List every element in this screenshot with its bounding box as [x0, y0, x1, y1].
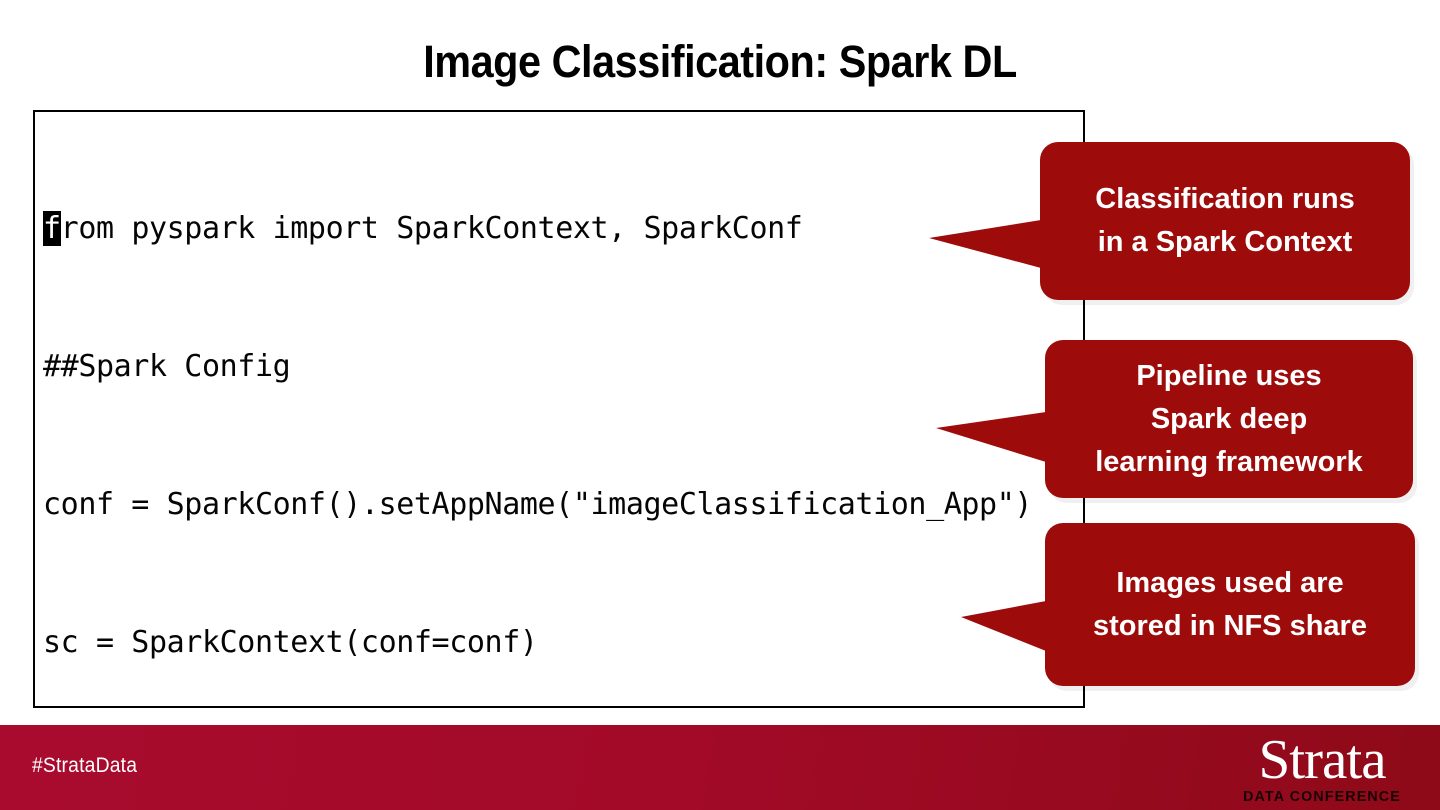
code-line-text-0: rom pyspark import SparkContext, SparkCo… — [61, 211, 803, 246]
callout-text: Images used are stored in NFS share — [1045, 562, 1415, 648]
callout-images-nfs-share: Images used are stored in NFS share — [1045, 523, 1415, 686]
code-screenshot-box: from pyspark import SparkContext, SparkC… — [33, 110, 1085, 708]
callout-line-2: Spark deep — [1057, 398, 1401, 441]
callout-pipeline-spark-deep-learning: Pipeline uses Spark deep learning framew… — [1045, 340, 1413, 498]
callout-line-1: Images used are — [1057, 562, 1403, 605]
footer-bar: #StrataData Strata DATA CONFERENCE — [0, 725, 1440, 810]
callout-text: Pipeline uses Spark deep learning framew… — [1045, 355, 1413, 484]
footer-hashtag: #StrataData — [32, 754, 137, 778]
callout-text: Classification runs in a Spark Context — [1040, 178, 1410, 264]
code-line: ##Spark Config — [43, 344, 1085, 390]
strata-logo: Strata DATA CONFERENCE — [1232, 733, 1412, 805]
callout-line-2: stored in NFS share — [1057, 605, 1403, 648]
strata-logo-subtitle: DATA CONFERENCE — [1237, 788, 1408, 805]
code-listing: from pyspark import SparkContext, SparkC… — [43, 114, 1085, 708]
strata-logo-wordmark: Strata — [1230, 733, 1414, 787]
callout-classification-spark-context: Classification runs in a Spark Context — [1040, 142, 1410, 300]
code-line: sc = SparkContext(conf=conf) — [43, 620, 1085, 666]
page-title: Image Classification: Spark DL — [58, 34, 1383, 90]
callout-line-1: Pipeline uses — [1057, 355, 1401, 398]
text-selection-highlight: f — [43, 211, 61, 246]
callout-line-2: in a Spark Context — [1052, 221, 1398, 264]
callout-line-1: Classification runs — [1052, 178, 1398, 221]
callout-line-3: learning framework — [1057, 441, 1401, 484]
code-line: conf = SparkConf().setAppName("imageClas… — [43, 482, 1085, 528]
